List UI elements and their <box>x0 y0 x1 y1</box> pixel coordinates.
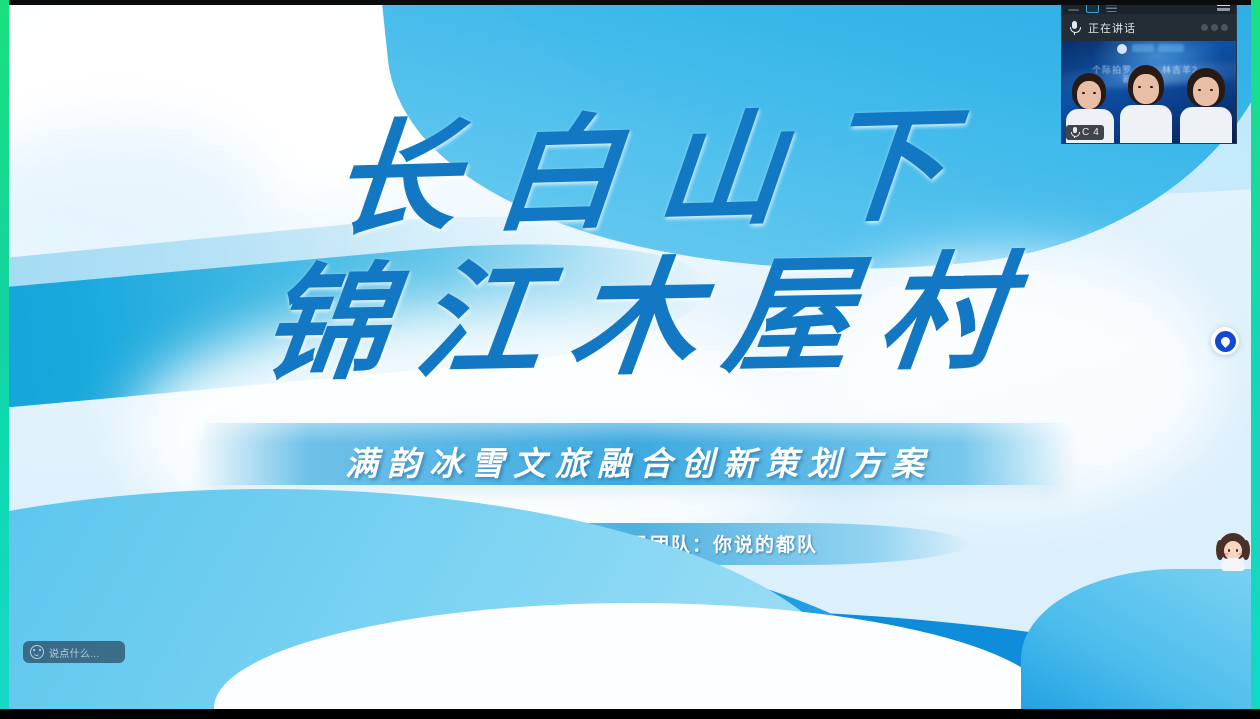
feed-background-chip <box>1132 44 1154 52</box>
window-icon[interactable] <box>1086 3 1099 13</box>
participant-face <box>1133 74 1159 104</box>
avatar-eye-left <box>1228 549 1230 552</box>
avatar-hair-right <box>1242 540 1250 560</box>
chat-input-placeholder: 说点什么... <box>49 645 99 660</box>
speaking-status-text: 正在讲话 <box>1088 20 1136 36</box>
microphone-icon[interactable] <box>1070 21 1079 35</box>
participant-eye <box>1210 89 1213 91</box>
speaking-status-bar: 正在讲话 <box>1062 14 1236 41</box>
app-logo-icon[interactable] <box>1211 327 1239 355</box>
avatar-eye-right <box>1236 549 1238 552</box>
avatar[interactable] <box>1216 533 1250 571</box>
participant-face <box>1193 77 1219 106</box>
status-badge-text: C 4 <box>1082 127 1099 138</box>
smiley-icon[interactable] <box>30 645 44 659</box>
bottom-right-wave <box>1021 569 1251 709</box>
chat-input[interactable]: 说点什么... <box>23 641 125 663</box>
participant-eye <box>1198 89 1201 91</box>
participant-eye <box>1082 92 1085 94</box>
participant-dots <box>1201 24 1228 31</box>
avatar-blush-left <box>1225 553 1229 555</box>
menu-icon[interactable] <box>1106 4 1117 12</box>
avatar-blush-right <box>1238 553 1242 555</box>
participant-eye <box>1138 86 1141 88</box>
screen-share-view: 长白山下 锦江木屋村 满韵冰雪文旅融合创新策划方案 旅游新业态策划 项目团队：你… <box>0 0 1260 719</box>
logo-drop-shape <box>1219 335 1232 348</box>
video-call-panel[interactable]: 正在讲话 个际拍罗 林吉羊2 著 <box>1061 0 1237 144</box>
microphone-icon <box>1071 127 1078 138</box>
participant-video <box>1180 67 1232 144</box>
participant-shirt <box>1180 107 1232 144</box>
participant-eye <box>1150 86 1153 88</box>
screen-share-border-right <box>1251 0 1260 719</box>
more-icon[interactable] <box>1217 4 1230 11</box>
video-feed[interactable]: 个际拍罗 林吉羊2 著 <box>1062 41 1236 144</box>
bottom-white-arc <box>214 603 1054 709</box>
screen-share-border-bottom <box>0 709 1260 719</box>
logo-ring <box>1215 331 1236 352</box>
avatar-body <box>1221 558 1245 571</box>
video-panel-toolbar[interactable] <box>1062 1 1236 14</box>
feed-background-chip <box>1158 44 1184 52</box>
team-line-text: 旅游新业态策划 项目团队：你说的都队 <box>309 530 949 557</box>
subtitle-text: 满韵冰雪文旅融合创新策划方案 <box>239 437 1039 485</box>
avatar-hair-left <box>1216 540 1224 560</box>
screen-share-border-left <box>0 0 9 719</box>
feed-background-logo <box>1117 44 1127 54</box>
status-badge: C 4 <box>1066 125 1104 140</box>
page-title-line-2: 锦江木屋村 <box>253 210 1047 405</box>
minimize-icon[interactable] <box>1068 9 1079 11</box>
participant-video <box>1120 65 1172 144</box>
participant-shirt <box>1120 105 1172 144</box>
participant-face <box>1077 81 1101 109</box>
participant-eye <box>1093 92 1096 94</box>
